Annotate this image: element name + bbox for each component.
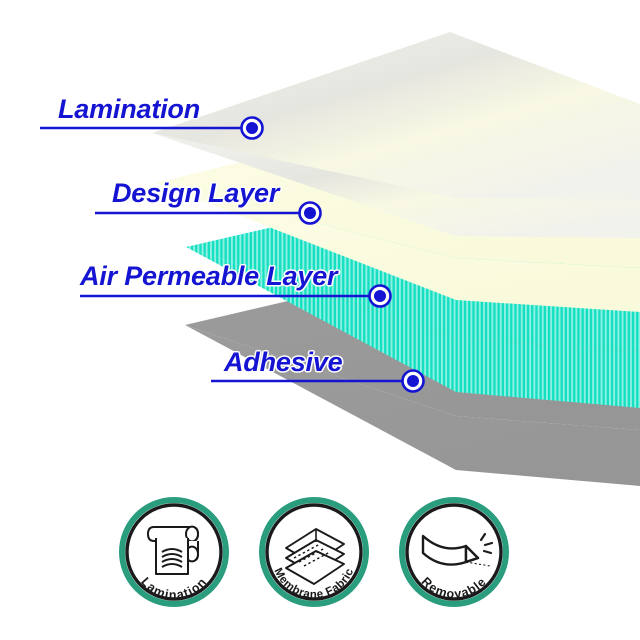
badge-lamination[interactable]: Lamination	[118, 496, 230, 608]
callout-label-air-permeable-layer: Air Permeable Layer	[80, 261, 337, 292]
badge-removable[interactable]: Removable	[398, 496, 510, 608]
callout-label-lamination: Lamination	[58, 94, 200, 125]
callout-label-adhesive: Adhesive	[224, 347, 342, 378]
feature-badges: Lamination	[0, 486, 640, 626]
callout-label-design-layer: Design Layer	[112, 178, 279, 209]
diagram-canvas: Lamination Design Layer Air Permeable La…	[0, 0, 640, 640]
badge-membrane-fabric[interactable]: Membrane Fabric	[258, 496, 370, 608]
